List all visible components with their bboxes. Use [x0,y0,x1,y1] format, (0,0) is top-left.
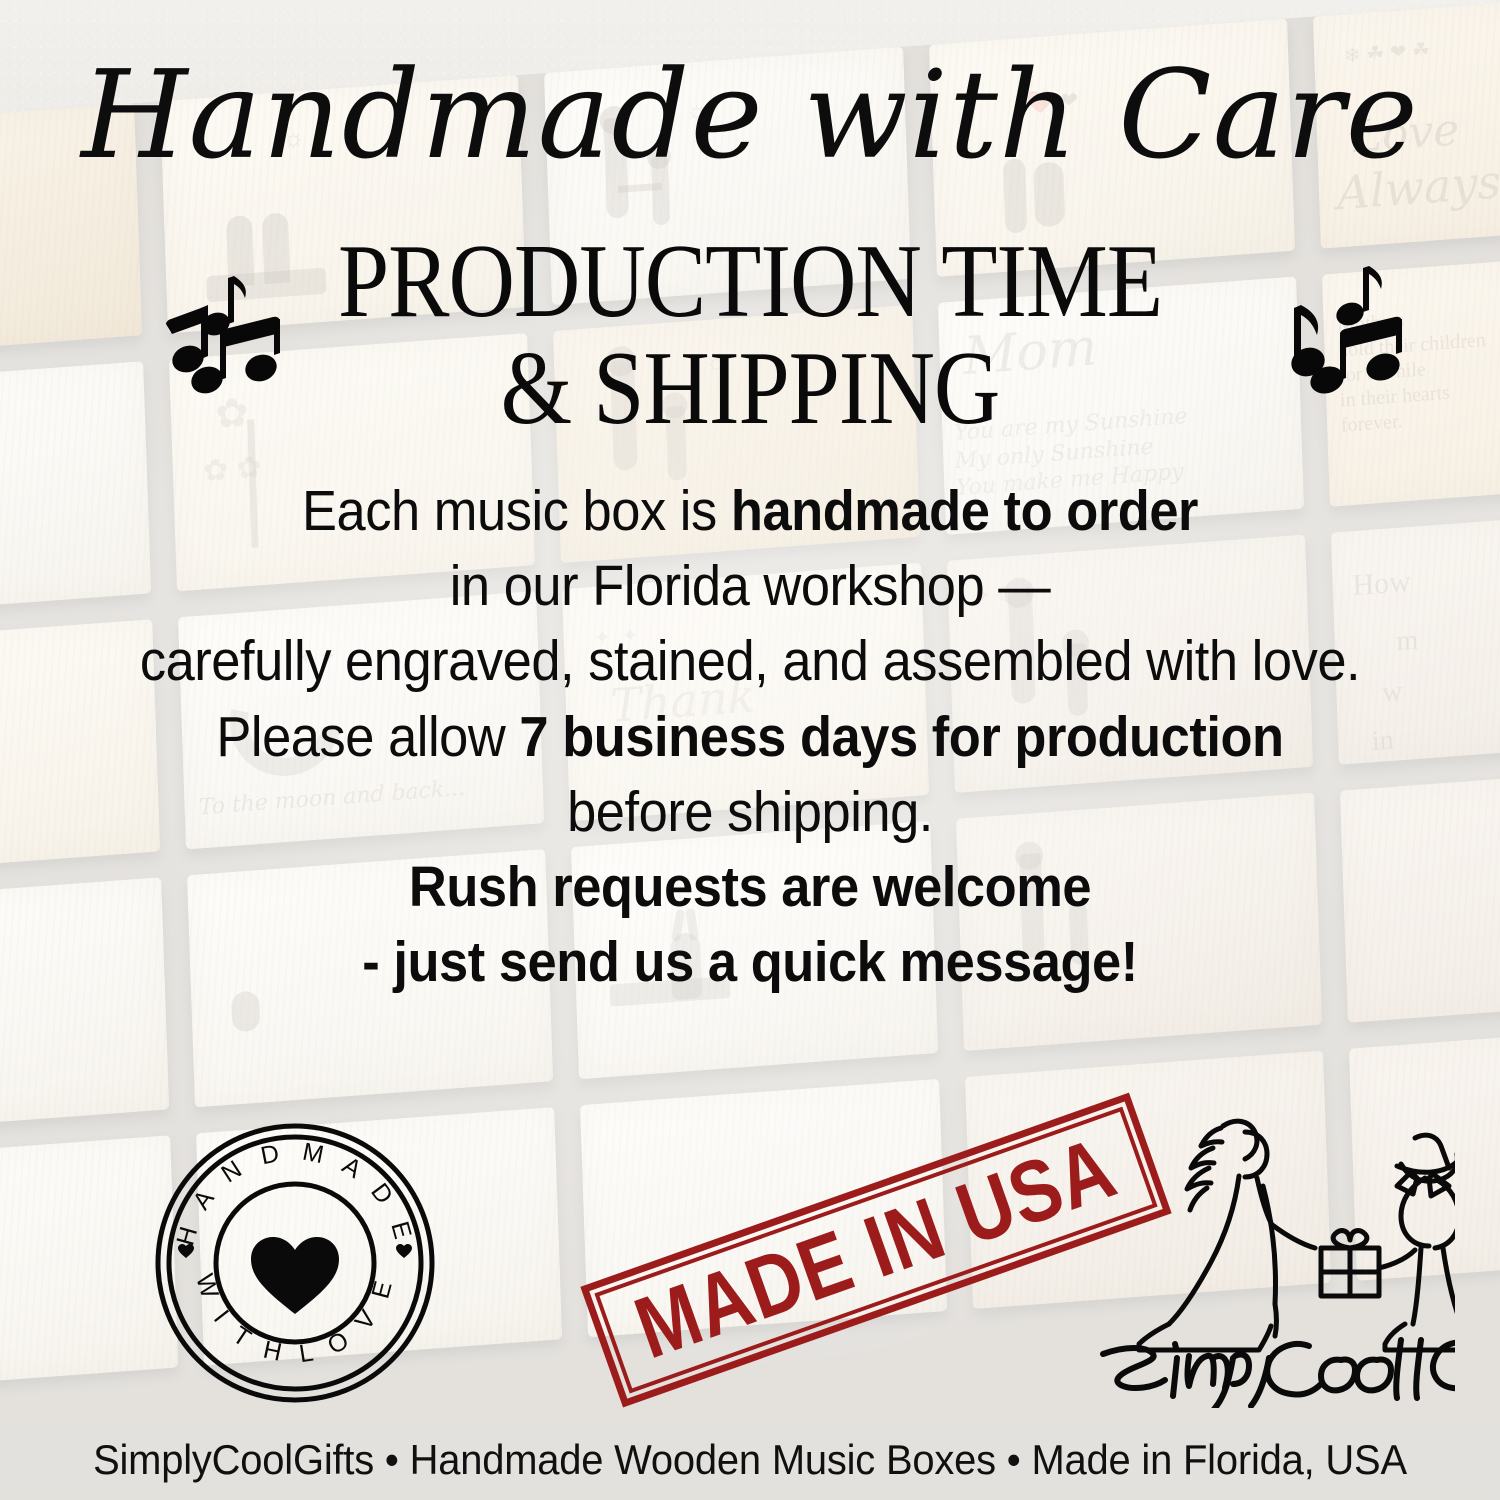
body-line-4: Please allow 7 business days for product… [97,700,1403,775]
body-line-3: carefully engraved, stained, and assembl… [97,624,1403,699]
overlay-content: Handmade with Care PRODUCTION TIME & SHI… [0,0,1500,1500]
body-line-6: Rush requests are welcome [97,850,1403,925]
made-in-usa-stamp: MADE IN USA [580,1092,1172,1407]
music-notes-icon [148,272,288,397]
heart-icon [251,1237,339,1314]
body-line-1a: Each music box is [302,479,731,543]
headline-line-1: PRODUCTION TIME [338,222,1162,338]
body-line-2: in our Florida workshop — [97,549,1403,624]
brand-logo [1085,1108,1455,1408]
handmade-with-love-stamp: ● H A N D M A D E ● W I T H L O V E [150,1118,440,1408]
body-line-4b: 7 business days for production [519,705,1283,769]
body-line-7: - just send us a quick message! [97,925,1403,1000]
music-notes-icon [1278,266,1418,394]
script-title: Handmade with Care [0,52,1500,179]
made-in-usa-label: MADE IN USA [625,1123,1126,1372]
body-line-5: before shipping. [97,775,1403,850]
graphic-canvas: Our Head on My Heart, to Part, Mine. ☼ [0,0,1500,1500]
badge-row: ● H A N D M A D E ● W I T H L O V E MADE… [0,1108,1500,1418]
footer-text: SimplyCoolGifts • Handmade Wooden Music … [38,1436,1463,1484]
body-line-1b: handmade to order [731,479,1198,543]
body-copy: Each music box is handmade to order in o… [40,474,1460,1001]
body-line-4a: Please allow [216,705,519,769]
body-line-1: Each music box is handmade to order [97,474,1403,549]
